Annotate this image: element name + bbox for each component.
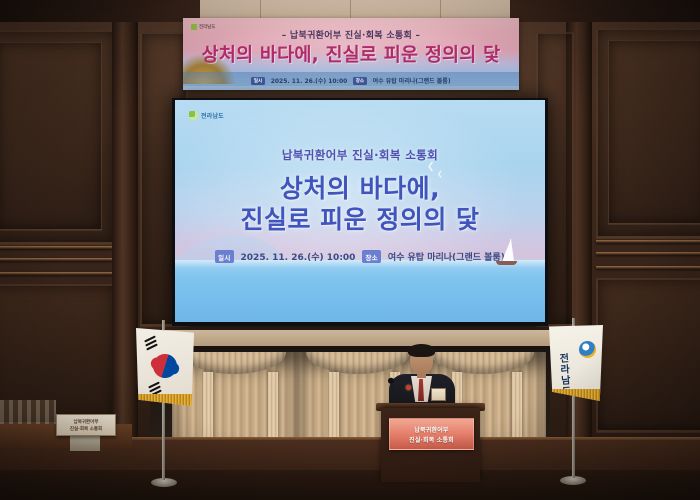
curtain-tieback-6 xyxy=(512,372,522,438)
floor-foreground xyxy=(0,470,700,500)
banner-subtitle: – 납북귀환어부 진실·회복 소통회 – xyxy=(183,28,519,41)
banner-place-chip: 장소 xyxy=(353,77,366,85)
nameplate-line2: 진실·회복 소통회 xyxy=(70,426,102,432)
screen-logo-label: 전라남도 xyxy=(201,111,224,120)
molding-left-b xyxy=(0,258,112,261)
molding-right-b xyxy=(596,252,700,255)
screen-subtitle: 납북귀환어부 진실·회복 소통회 xyxy=(175,147,545,163)
molding-right-a xyxy=(596,240,700,243)
screen-logo: 전라남도 xyxy=(189,111,224,120)
banner-date-value: 2025. 11. 26.(수) 10:00 xyxy=(271,76,348,85)
screen-sea-graphic xyxy=(175,260,545,322)
wall-panel-right-3 xyxy=(596,278,700,432)
screen-date-value: 2025. 11. 26.(수) 10:00 xyxy=(241,250,356,263)
curtain-tieback-1 xyxy=(203,372,213,438)
projection-screen: ❮ ❮ 전라남도 납북귀환어부 진실·회복 소통회 상처의 바다에, 진실로 피… xyxy=(175,100,545,322)
wall-panel-left-1-inner xyxy=(0,42,102,230)
banner-info: 일시 2025. 11. 26.(수) 10:00 장소 여수 유탑 마리나(그… xyxy=(183,76,519,85)
molding-left-c xyxy=(0,272,112,275)
table-nameplate: 납북귀환어부 진실·회복 소통회 xyxy=(56,414,116,436)
wall-panel-right-2-inner xyxy=(608,40,700,224)
nameplate-line1: 납북귀환어부 xyxy=(74,419,99,425)
overhead-banner: 전라남도 – 납북귀환어부 진실·회복 소통회 – 상처의 바다에, 진실로 피… xyxy=(183,18,519,90)
banner-date-chip: 일시 xyxy=(251,77,264,85)
podium-sign-line2: 진실·회복 소통회 xyxy=(409,435,454,444)
molding-right-c xyxy=(596,266,700,269)
province-emblem-icon xyxy=(579,341,596,358)
province-logo-icon xyxy=(189,111,198,120)
speaker-hair xyxy=(408,344,435,357)
podium-sign: 납북귀환어부 진실·회복 소통회 xyxy=(389,418,474,450)
conference-hall-photo: 전라남도 – 납북귀환어부 진실·회복 소통회 – 상처의 바다에, 진실로 피… xyxy=(0,0,700,500)
speaker-name-badge xyxy=(431,388,446,401)
screen-place-value: 여수 유탑 마리나(그랜드 볼룸) xyxy=(388,250,505,263)
molding-left-a xyxy=(0,246,112,249)
screen-title-line2: 진실로 피운 정의의 닻 xyxy=(175,205,545,235)
curtain-tieback-2 xyxy=(268,372,278,438)
seagull-icon: ❮ xyxy=(427,162,435,172)
podium-sign-line1: 납북귀환어부 xyxy=(414,425,448,434)
banner-place-value: 여수 유탑 마리나(그랜드 볼룸) xyxy=(373,76,451,85)
taeguk-icon xyxy=(149,350,181,382)
korean-national-flag xyxy=(136,328,194,406)
sailboat-icon xyxy=(493,238,519,268)
screen-place-chip: 장소 xyxy=(362,250,380,263)
curtain-tieback-3 xyxy=(329,372,339,438)
screen-date-chip: 일시 xyxy=(215,250,233,263)
jeollanamdo-flag: 전라남도 xyxy=(549,325,603,401)
banner-title: 상처의 바다에, 진실로 피운 정의의 닻 xyxy=(183,41,519,67)
lapel-pin-icon xyxy=(406,385,411,390)
screen-title-line1: 상처의 바다에, xyxy=(175,174,545,204)
screen-info: 일시 2025. 11. 26.(수) 10:00 장소 여수 유탑 마리나(그… xyxy=(175,250,545,263)
